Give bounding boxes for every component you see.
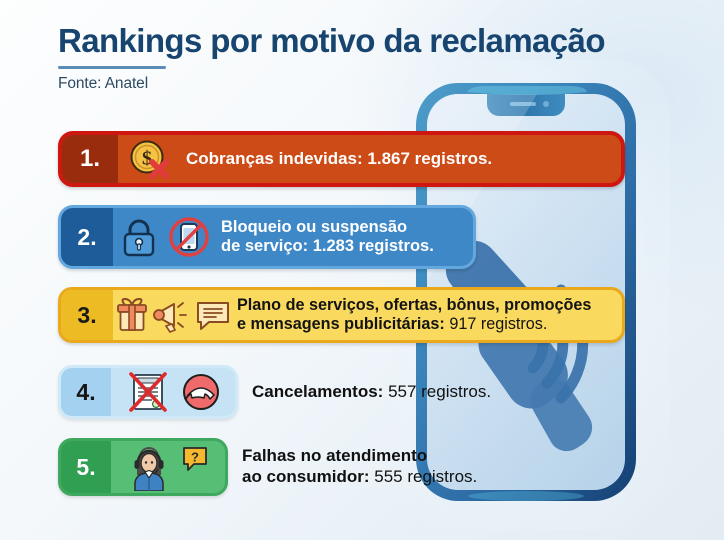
rank-1-text: Cobranças indevidas: 1.867 registros.	[180, 149, 492, 169]
rank-2-text: Bloqueio ou suspensão de serviço: 1.283 …	[217, 218, 434, 257]
rank-3-line1: Plano de serviços, ofertas, bônus, promo…	[237, 296, 591, 315]
phone-hangup-icon	[178, 369, 224, 415]
ranking-pill-3: 3.	[58, 287, 625, 343]
rank-2-line2: de serviço: 1.283 registros.	[221, 237, 434, 256]
question-bubble-icon: ?	[181, 445, 209, 475]
page-title: Rankings por motivo da reclamação	[58, 23, 658, 60]
infographic-canvas: Rankings por motivo da reclamação Fonte:…	[0, 0, 724, 540]
rank-2-line1: Bloqueio ou suspensão	[221, 218, 434, 237]
rank-2-icons	[113, 214, 217, 260]
rank-3-text: Plano de serviços, ofertas, bônus, promo…	[233, 296, 591, 334]
rank-1-icons: $	[118, 136, 180, 182]
rank-3-icons	[113, 296, 233, 334]
rank-number-5: 5.	[61, 441, 111, 493]
coin-dollar-blocked-icon: $	[126, 136, 172, 182]
rank-4-icons	[111, 369, 235, 415]
rank-number-1: 1.	[62, 135, 118, 183]
rank-5-line1: Falhas no atendimento	[242, 446, 427, 465]
ranking-row-4: 4.	[58, 365, 491, 419]
ranking-pill-4: 4.	[58, 365, 238, 419]
ranking-row-2: 2. Bloqueio ou suspensão de	[58, 205, 476, 269]
ranking-row-5: 5.	[58, 438, 477, 496]
rank-number-2: 2.	[61, 208, 113, 266]
rank-3-line2: e mensagens publicitárias: 917 registros…	[237, 315, 591, 334]
support-agent-icon	[127, 443, 185, 491]
ranking-row-1: 1. $ Cobranças indevidas: 1.867 registro…	[58, 131, 625, 187]
megaphone-icon	[152, 296, 192, 334]
ranking-pill-2: 2. Bloqueio ou suspensão de	[58, 205, 476, 269]
title-divider	[58, 66, 166, 69]
speech-bubble-icon	[194, 297, 232, 333]
rank-number-3: 3.	[61, 290, 113, 340]
no-phone-icon	[166, 214, 212, 260]
rank-number-4: 4.	[61, 368, 111, 416]
rank-5-icons: ?	[111, 443, 225, 491]
ranking-pill-5: 5.	[58, 438, 228, 496]
svg-text:$: $	[142, 148, 152, 170]
rank-4-text: Cancelamentos: 557 registros.	[238, 365, 491, 419]
rank-5-text: Falhas no atendimento ao consumidor: 555…	[228, 438, 477, 496]
ranking-pill-1: 1. $ Cobranças indevidas: 1.867 registro…	[58, 131, 625, 187]
header: Rankings por motivo da reclamação Fonte:…	[58, 23, 658, 93]
svg-text:?: ?	[191, 450, 199, 465]
source-label: Fonte: Anatel	[58, 75, 658, 93]
ranking-row-3: 3.	[58, 287, 625, 343]
gift-icon	[114, 296, 150, 334]
contract-cancelled-icon	[122, 369, 174, 415]
padlock-icon	[118, 215, 160, 259]
